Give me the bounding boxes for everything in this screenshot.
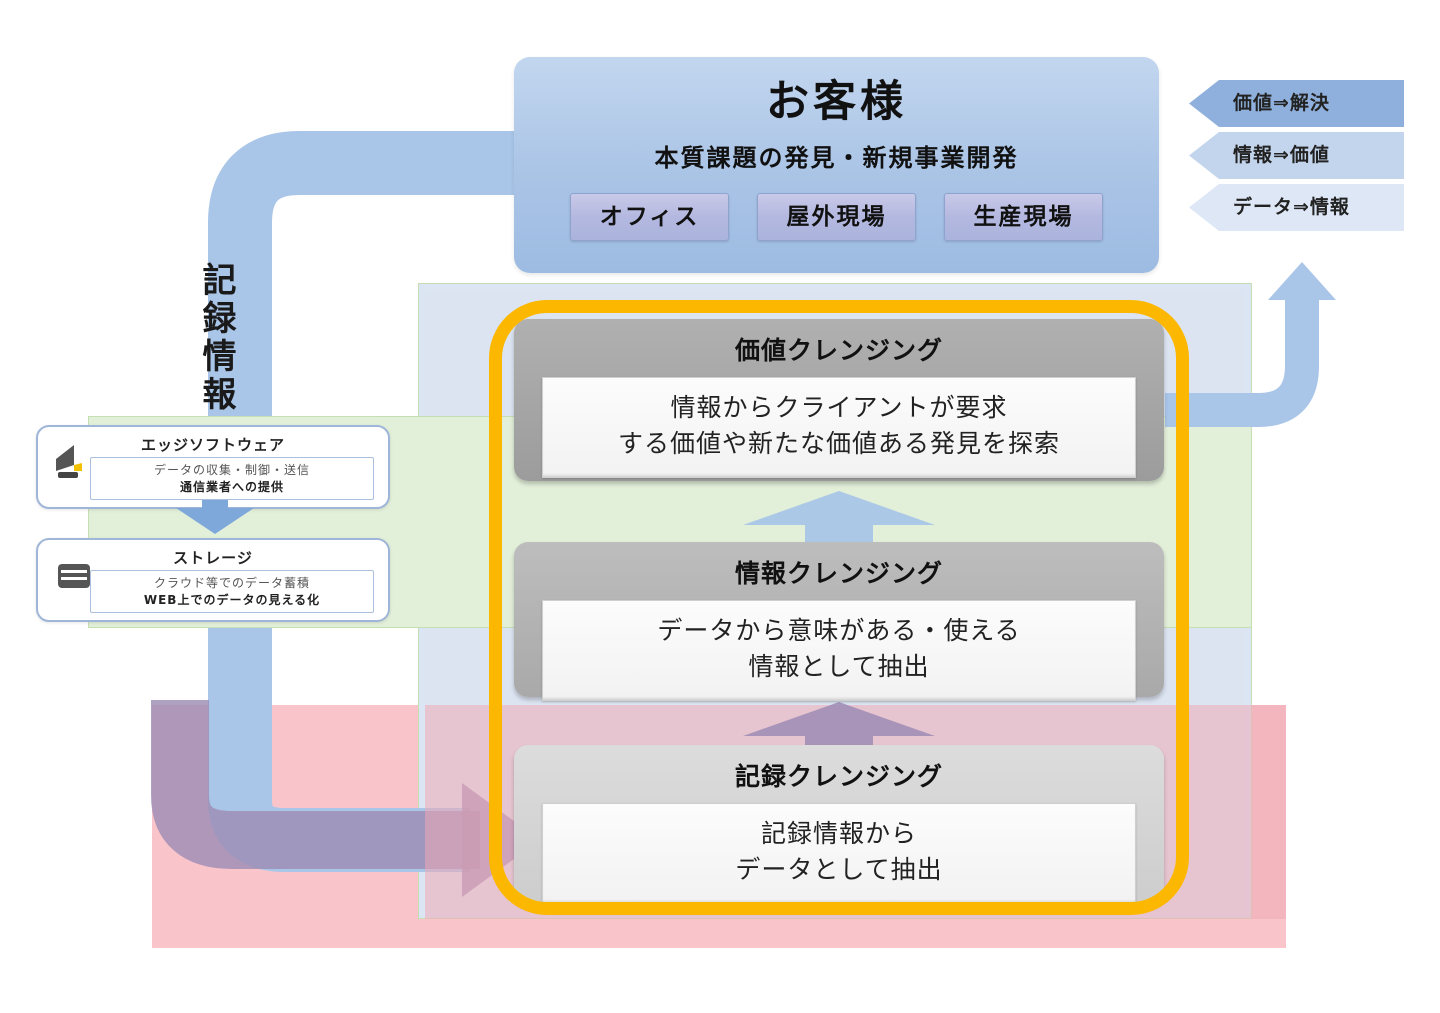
database-icon xyxy=(52,554,96,598)
storage-box[interactable]: ストレージ クラウド等でのデータ蓄積 WEB上でのデータの見える化 xyxy=(36,538,390,622)
edge-software-detail: データの収集・制御・送信 通信業者への提供 xyxy=(90,457,374,500)
orange-highlight-ring xyxy=(489,300,1189,915)
edge-software-line1: データの収集・制御・送信 xyxy=(93,461,371,478)
customer-tag-list: オフィス 屋外現場 生産現場 xyxy=(514,193,1159,241)
customer-subtitle: 本質課題の発見・新規事業開発 xyxy=(514,138,1159,173)
chevron-data-to-information: データ⇒情報 xyxy=(1189,184,1404,231)
chevron-information-to-value: 情報⇒価値 xyxy=(1189,132,1404,179)
storage-line1: クラウド等でのデータ蓄積 xyxy=(93,574,371,591)
customer-tag-outdoor-site[interactable]: 屋外現場 xyxy=(757,193,916,241)
storage-line2: WEB上でのデータの見える化 xyxy=(93,591,371,608)
edge-device-icon xyxy=(52,441,96,485)
customer-tag-production-site[interactable]: 生産現場 xyxy=(944,193,1103,241)
legend-chevron-group: 価値⇒解決 情報⇒価値 データ⇒情報 xyxy=(1189,80,1404,236)
diagram-canvas: 記録情報 お客様 本質課題の発見・新規事業開発 オフィス 屋外現場 生産現場 価… xyxy=(0,0,1440,1013)
customer-tag-office[interactable]: オフィス xyxy=(570,193,729,241)
edge-software-line2: 通信業者への提供 xyxy=(93,478,371,495)
record-information-vertical-label: 記録情報 xyxy=(197,262,241,414)
customer-title: お客様 xyxy=(514,79,1159,126)
down-arrow-edge-to-storage xyxy=(176,500,254,536)
edge-software-box[interactable]: エッジソフトウェア データの収集・制御・送信 通信業者への提供 xyxy=(36,425,390,509)
chevron-value-to-solution: 価値⇒解決 xyxy=(1189,80,1404,127)
storage-detail: クラウド等でのデータ蓄積 WEB上でのデータの見える化 xyxy=(90,570,374,613)
customer-box[interactable]: お客様 本質課題の発見・新規事業開発 オフィス 屋外現場 生産現場 xyxy=(514,57,1159,273)
